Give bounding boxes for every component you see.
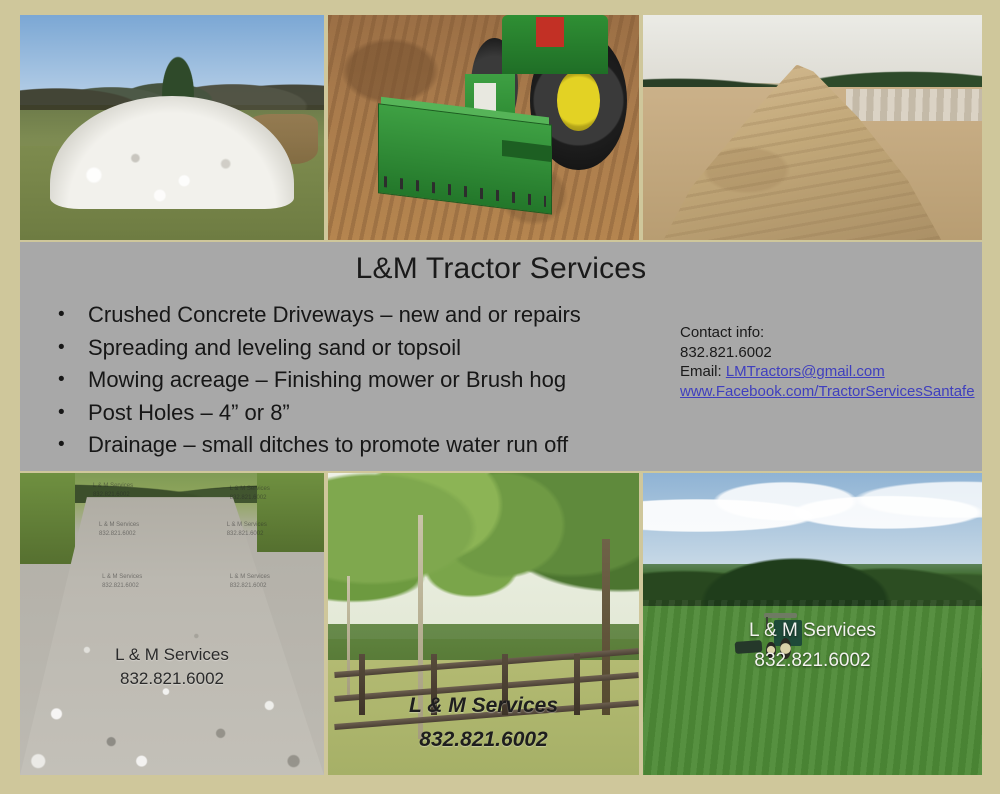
blade-mast-plate — [474, 83, 496, 112]
list-item: • Post Holes – 4” or 8” — [40, 397, 660, 430]
bottom-photo-row: L & M Services 832.821.6002 L & M Servic… — [20, 473, 982, 775]
page-title: L&M Tractor Services — [20, 242, 982, 286]
watermark-business-name: L & M Services — [328, 693, 639, 719]
flyer-root: L&M Tractor Services • Crushed Concrete … — [0, 0, 1000, 794]
contact-facebook-row: www.Facebook.com/TractorServicesSantafe — [680, 382, 980, 402]
service-label: Drainage – small ditches to promote wate… — [88, 432, 568, 457]
list-item: • Mowing acreage – Finishing mower or Br… — [40, 364, 660, 397]
watermark-phone: 832.821.6002 — [20, 666, 324, 692]
tree-trunk — [347, 576, 350, 697]
bullet-icon: • — [58, 364, 65, 397]
photo-fenced-acreage: L & M Services 832.821.6002 — [328, 473, 639, 775]
list-item: • Drainage – small ditches to promote wa… — [40, 429, 660, 462]
photo-tractor-mowing-field: L & M Services 832.821.6002 — [643, 473, 982, 775]
contact-heading: Contact info: — [680, 323, 980, 343]
photo-crushed-gravel-pile — [20, 15, 324, 240]
tractor-seat — [536, 17, 564, 46]
service-label: Crushed Concrete Driveways – new and or … — [88, 302, 581, 327]
contact-email-row: Email: LMTractors@gmail.com — [680, 362, 980, 382]
facebook-link[interactable]: www.Facebook.com/TractorServicesSantafe — [680, 383, 975, 400]
bullet-icon: • — [58, 397, 65, 430]
list-item: • Crushed Concrete Driveways – new and o… — [40, 299, 660, 332]
contact-phone: 832.821.6002 — [680, 343, 980, 363]
photo-gravel-driveway: L & M Services 832.821.6002 L & M Servic… — [20, 473, 324, 775]
watermark-business-name: L & M Services — [20, 642, 324, 668]
bullet-icon: • — [58, 299, 65, 332]
info-panel: L&M Tractor Services • Crushed Concrete … — [20, 242, 982, 471]
watermark-phone: 832.821.6002 — [643, 648, 982, 674]
services-list: • Crushed Concrete Driveways – new and o… — [40, 299, 660, 462]
grass-left — [20, 473, 75, 564]
tree-trunk — [602, 539, 610, 714]
bullet-icon: • — [58, 429, 65, 462]
treeline-layer — [643, 515, 982, 606]
email-label: Email: — [680, 363, 726, 380]
service-label: Mowing acreage – Finishing mower or Brus… — [88, 367, 566, 392]
list-item: • Spreading and leveling sand or topsoil — [40, 332, 660, 365]
watermark-phone: 832.821.6002 — [328, 727, 639, 753]
contact-block: Contact info: 832.821.6002 Email: LMTrac… — [680, 323, 980, 401]
email-link[interactable]: LMTractors@gmail.com — [726, 363, 885, 380]
photo-sand-pile — [643, 15, 982, 240]
gravel-pile-shape — [50, 96, 293, 209]
service-label: Spreading and leveling sand or topsoil — [88, 335, 461, 360]
watermark-business-name: L & M Services — [643, 618, 982, 644]
rubble-pile — [846, 89, 982, 121]
grass-right — [257, 473, 324, 552]
top-photo-row — [20, 15, 982, 240]
service-label: Post Holes – 4” or 8” — [88, 400, 290, 425]
bullet-icon: • — [58, 332, 65, 365]
photo-tractor-box-blade — [328, 15, 639, 240]
